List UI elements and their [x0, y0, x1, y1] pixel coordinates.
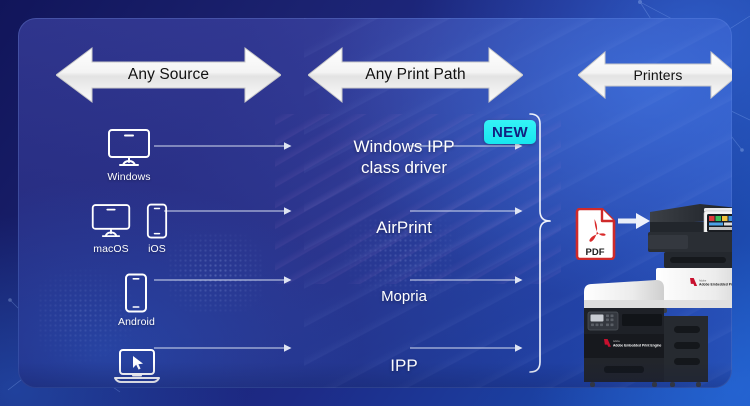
- banner-label: Any Source: [128, 66, 209, 84]
- source-row-macos-ios: macOS iOS: [90, 203, 168, 255]
- banner-printers: Printers: [578, 50, 732, 100]
- halftone-dots-decor: [168, 233, 263, 313]
- source-label: Windows: [107, 171, 150, 183]
- banner-any-source: Any Source: [56, 46, 281, 104]
- diagram-panel: Any Source Any Print Path Printers Windo…: [18, 18, 732, 388]
- source-ios[interactable]: iOS: [146, 203, 168, 255]
- source-label: macOS: [93, 243, 129, 255]
- path-label-airprint[interactable]: AirPrint: [314, 218, 494, 238]
- banner-label: Any Print Path: [365, 66, 465, 84]
- pdf-document-icon[interactable]: PDF: [574, 208, 616, 260]
- source-label: iOS: [148, 243, 166, 255]
- desktop-monitor-icon: [90, 203, 132, 240]
- source-android[interactable]: Android: [118, 273, 155, 328]
- new-badge: NEW: [484, 120, 536, 144]
- desktop-monitor-icon: [106, 128, 152, 168]
- banner-label: Printers: [633, 67, 682, 83]
- banner-any-print-path: Any Print Path: [308, 46, 523, 104]
- diagram-canvas: Any Source Any Print Path Printers Windo…: [0, 0, 750, 406]
- path-label-line1: Windows IPP: [314, 136, 494, 157]
- path-label-mopria[interactable]: Mopria: [314, 288, 494, 305]
- pdf-icon-shape: PDF: [574, 208, 616, 260]
- source-label: Android: [118, 316, 155, 328]
- printer-panel-swatches: [709, 216, 732, 230]
- printer-badge-text: Adobe Embedded Print Engine: [613, 343, 662, 347]
- smartphone-icon: [146, 203, 168, 240]
- source-macos[interactable]: macOS: [90, 203, 132, 255]
- source-windows[interactable]: Windows: [106, 128, 152, 183]
- path-label-line2: class driver: [314, 157, 494, 178]
- smartphone-icon: [124, 273, 148, 313]
- panel-bottom-fade: [18, 362, 732, 388]
- path-label-windows-ipp-class-driver[interactable]: Windows IPP class driver: [314, 136, 494, 178]
- pdf-label: PDF: [586, 247, 605, 258]
